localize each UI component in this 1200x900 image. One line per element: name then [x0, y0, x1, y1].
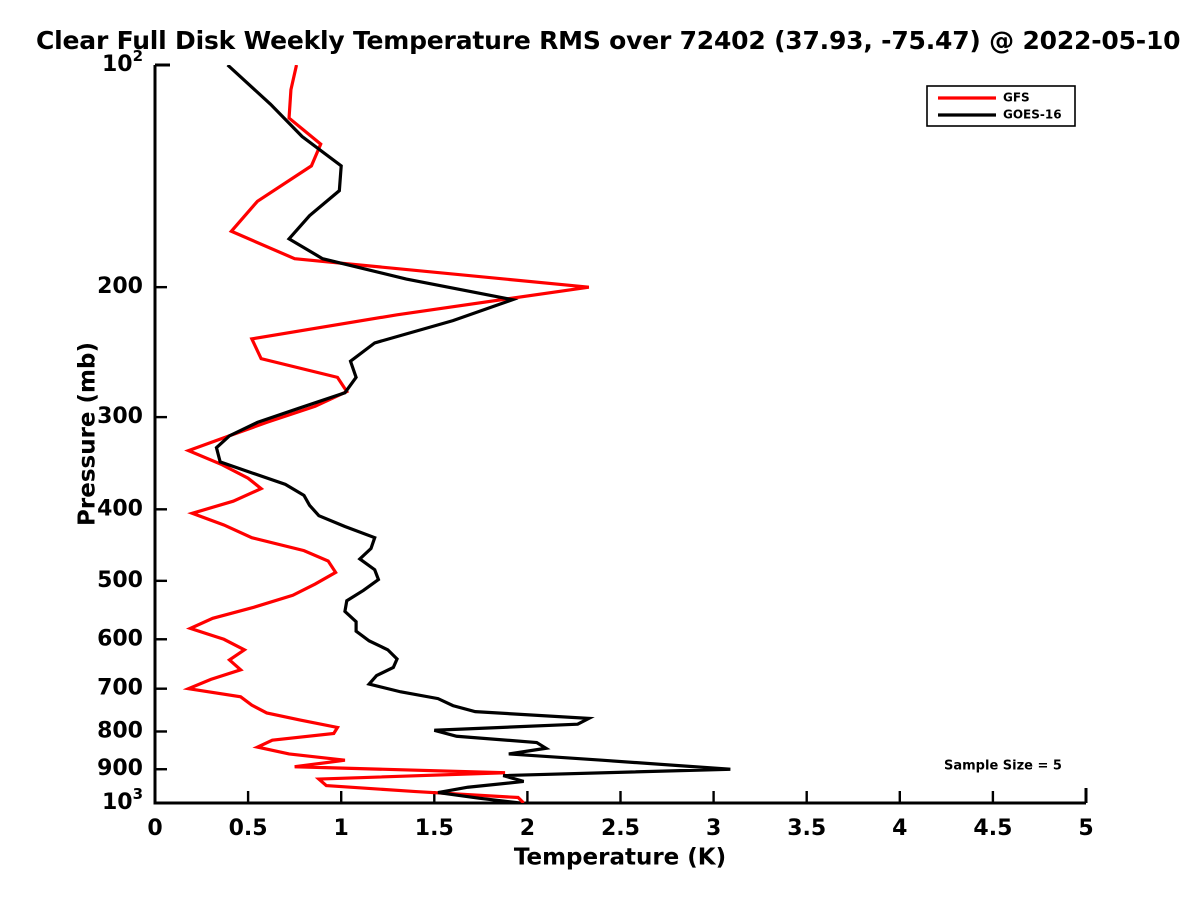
- x-tick-label-4.5: 4.5: [973, 816, 1012, 841]
- y-tick-label-800: 800: [97, 718, 143, 743]
- legend-label-goes16: GOES-16: [1003, 108, 1062, 122]
- y-axis-tick-labels: 102200300400500600700800900103: [97, 47, 143, 816]
- x-axis-tick-labels: 00.511.522.533.544.55: [147, 816, 1093, 841]
- legend-label-gfs: GFS: [1003, 91, 1030, 105]
- x-tick-label-3: 3: [706, 816, 721, 841]
- x-tick-label-3.5: 3.5: [787, 816, 826, 841]
- legend[interactable]: GFS GOES-16: [927, 86, 1075, 126]
- y-axis-label: Pressure (mb): [75, 342, 101, 526]
- x-tick-label-0.5: 0.5: [229, 816, 268, 841]
- series-line-gfs: [189, 65, 589, 803]
- data-series-group: [189, 65, 731, 803]
- y-tick-label-600: 600: [97, 626, 143, 651]
- sample-size-annotation: Sample Size = 5: [944, 759, 1062, 774]
- series-line-goes-16: [216, 65, 730, 803]
- x-tick-label-4: 4: [892, 816, 907, 841]
- y-tick-label-200: 200: [97, 274, 143, 299]
- y-tick-label-300: 300: [97, 404, 143, 429]
- x-tick-label-5: 5: [1078, 816, 1093, 841]
- x-axis-label: Temperature (K): [514, 845, 726, 871]
- y-tick-label-400: 400: [97, 496, 143, 521]
- figure-canvas: Clear Full Disk Weekly Temperature RMS o…: [0, 0, 1200, 900]
- y-tick-label-1000: 103: [102, 785, 143, 816]
- x-tick-label-2: 2: [520, 816, 535, 841]
- y-tick-label-900: 900: [97, 756, 143, 781]
- x-axis-ticks: [155, 791, 1086, 803]
- x-tick-label-1.5: 1.5: [415, 816, 454, 841]
- y-tick-label-700: 700: [97, 676, 143, 701]
- x-tick-label-0: 0: [147, 816, 162, 841]
- chart-plot: 102200300400500600700800900103 00.511.52…: [0, 0, 1200, 900]
- x-tick-label-1: 1: [334, 816, 349, 841]
- y-tick-label-500: 500: [97, 568, 143, 593]
- x-tick-label-2.5: 2.5: [601, 816, 640, 841]
- y-tick-label-100: 102: [102, 47, 143, 78]
- y-axis-ticks: [155, 65, 167, 803]
